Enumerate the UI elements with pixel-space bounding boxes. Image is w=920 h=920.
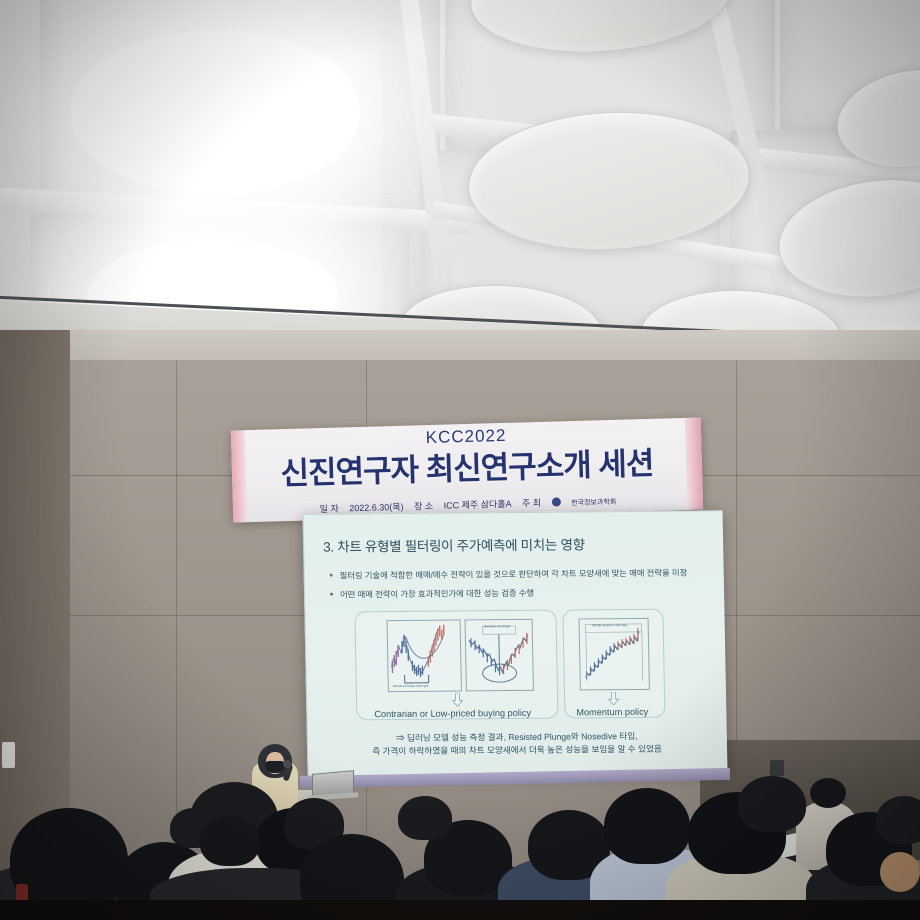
wall-room-number-sign [2, 742, 15, 768]
arrow-down-icon [608, 692, 619, 705]
slide-bullet: 어떤 매매 전략이 가장 효과적인가에 대한 성능 검증 수행 [330, 587, 534, 601]
bullet-dot-icon [330, 574, 333, 577]
policy-label-momentum: Momentum policy [576, 707, 648, 718]
audience-head [876, 796, 920, 844]
event-banner: KCC2022 신진연구자 최신연구소개 세션 일 자 2022.6.30(목)… [231, 417, 703, 522]
microphone-head-icon [283, 760, 291, 768]
projection-screen: 3. 차트 유형별 필터링이 주가예측에 미치는 영향 필터링 기술에 적합한 … [302, 510, 727, 776]
audience-head [604, 788, 690, 864]
chart-figure-resisted-plunge: Resisted Plunge chart type [387, 619, 462, 692]
banner-date-label: 일 자 [320, 504, 339, 515]
chart-figure-caption: Nosedive chart type [484, 624, 511, 628]
slide-bullet-text: 필터링 기술에 적합한 매매/매수 전략이 있을 것으로 판단하여 각 차트 모… [340, 567, 688, 580]
face-mask-icon [265, 761, 285, 773]
chart-figure-caption: Steady Increase chart type [592, 623, 628, 627]
audience-head [398, 796, 452, 840]
audience-head [200, 816, 260, 866]
chart-svg-steady-increase [580, 619, 649, 690]
audience-member-arm [880, 852, 920, 892]
audience-member-head [810, 778, 846, 808]
slide-bullet-text: 어떤 매매 전략이 가장 효과적인가에 대한 성능 검증 수행 [340, 588, 534, 600]
policy-label-contrarian: Contrarian or Low-priced buying policy [374, 708, 531, 719]
arrow-down-icon [452, 693, 463, 706]
banner-host-label: 주 최 [522, 498, 541, 509]
slide-conclusion: ⇒ 딥러닝 모델 성능 측정 결과, Resisted Plunge와 Nose… [307, 729, 728, 759]
banner-place-label: 장 소 [414, 501, 433, 512]
ceiling-light-panel [70, 30, 360, 195]
wall-outlet-icon [770, 760, 784, 776]
banner-date-value: 2022.6.30(목) [349, 502, 404, 514]
banner-host-value: 한국정보과학회 [571, 499, 616, 507]
chart-svg-nosedive [466, 620, 533, 691]
floor-shadow [0, 900, 920, 920]
bullet-dot-icon [330, 593, 333, 596]
organization-seal-icon [551, 497, 560, 506]
chart-svg-resisted-plunge [388, 620, 461, 691]
chart-figure-nosedive: Nosedive chart type [465, 619, 534, 692]
audience-head [738, 776, 806, 832]
chart-figure-caption: Resisted Plunge chart type [393, 684, 429, 688]
chart-figure-steady-increase: Steady Increase chart type [579, 618, 650, 691]
conference-photo: KCC2022 신진연구자 최신연구소개 세션 일 자 2022.6.30(목)… [0, 0, 920, 920]
slide-title: 3. 차트 유형별 필터링이 주가예측에 미치는 영향 [323, 533, 585, 555]
banner-place-value: ICC 제주 삼다홀A [444, 499, 512, 511]
